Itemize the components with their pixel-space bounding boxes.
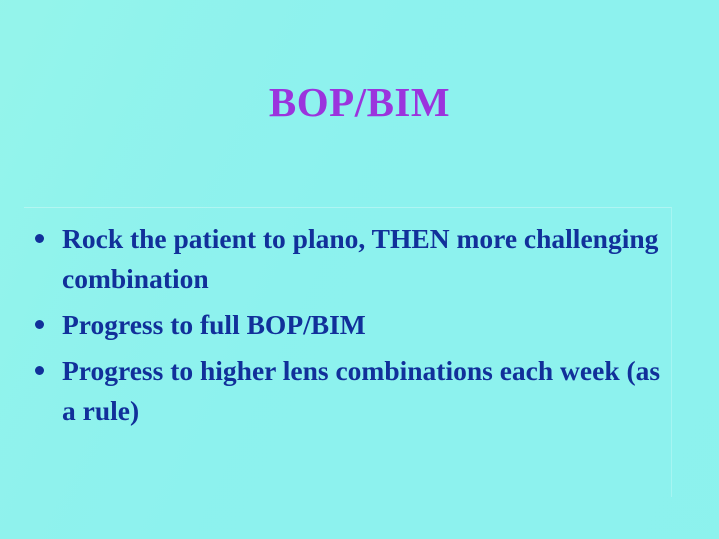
bullet-item-1-label: Rock the patient to plano, THEN more cha… <box>62 219 676 299</box>
body-placeholder[interactable]: Rock the patient to plano, THEN more cha… <box>26 219 676 431</box>
bullet-item-3-label: Progress to higher lens combinations eac… <box>62 351 676 431</box>
title-placeholder[interactable]: BOP/BIM <box>0 78 719 126</box>
bullet-point-icon <box>35 366 44 375</box>
slide-title: BOP/BIM <box>269 78 450 126</box>
bullet-item-2-label: Progress to full BOP/BIM <box>62 305 676 345</box>
bullet-list: Rock the patient to plano, THEN more cha… <box>26 219 676 431</box>
bullet-item-3[interactable]: Progress to higher lens combinations eac… <box>26 351 676 431</box>
bullet-point-icon <box>35 234 44 243</box>
bullet-item-2[interactable]: Progress to full BOP/BIM <box>26 305 676 345</box>
bullet-item-1[interactable]: Rock the patient to plano, THEN more cha… <box>26 219 676 299</box>
presentation-slide: BOP/BIM Rock the patient to plano, THEN … <box>0 0 719 539</box>
bullet-point-icon <box>35 320 44 329</box>
